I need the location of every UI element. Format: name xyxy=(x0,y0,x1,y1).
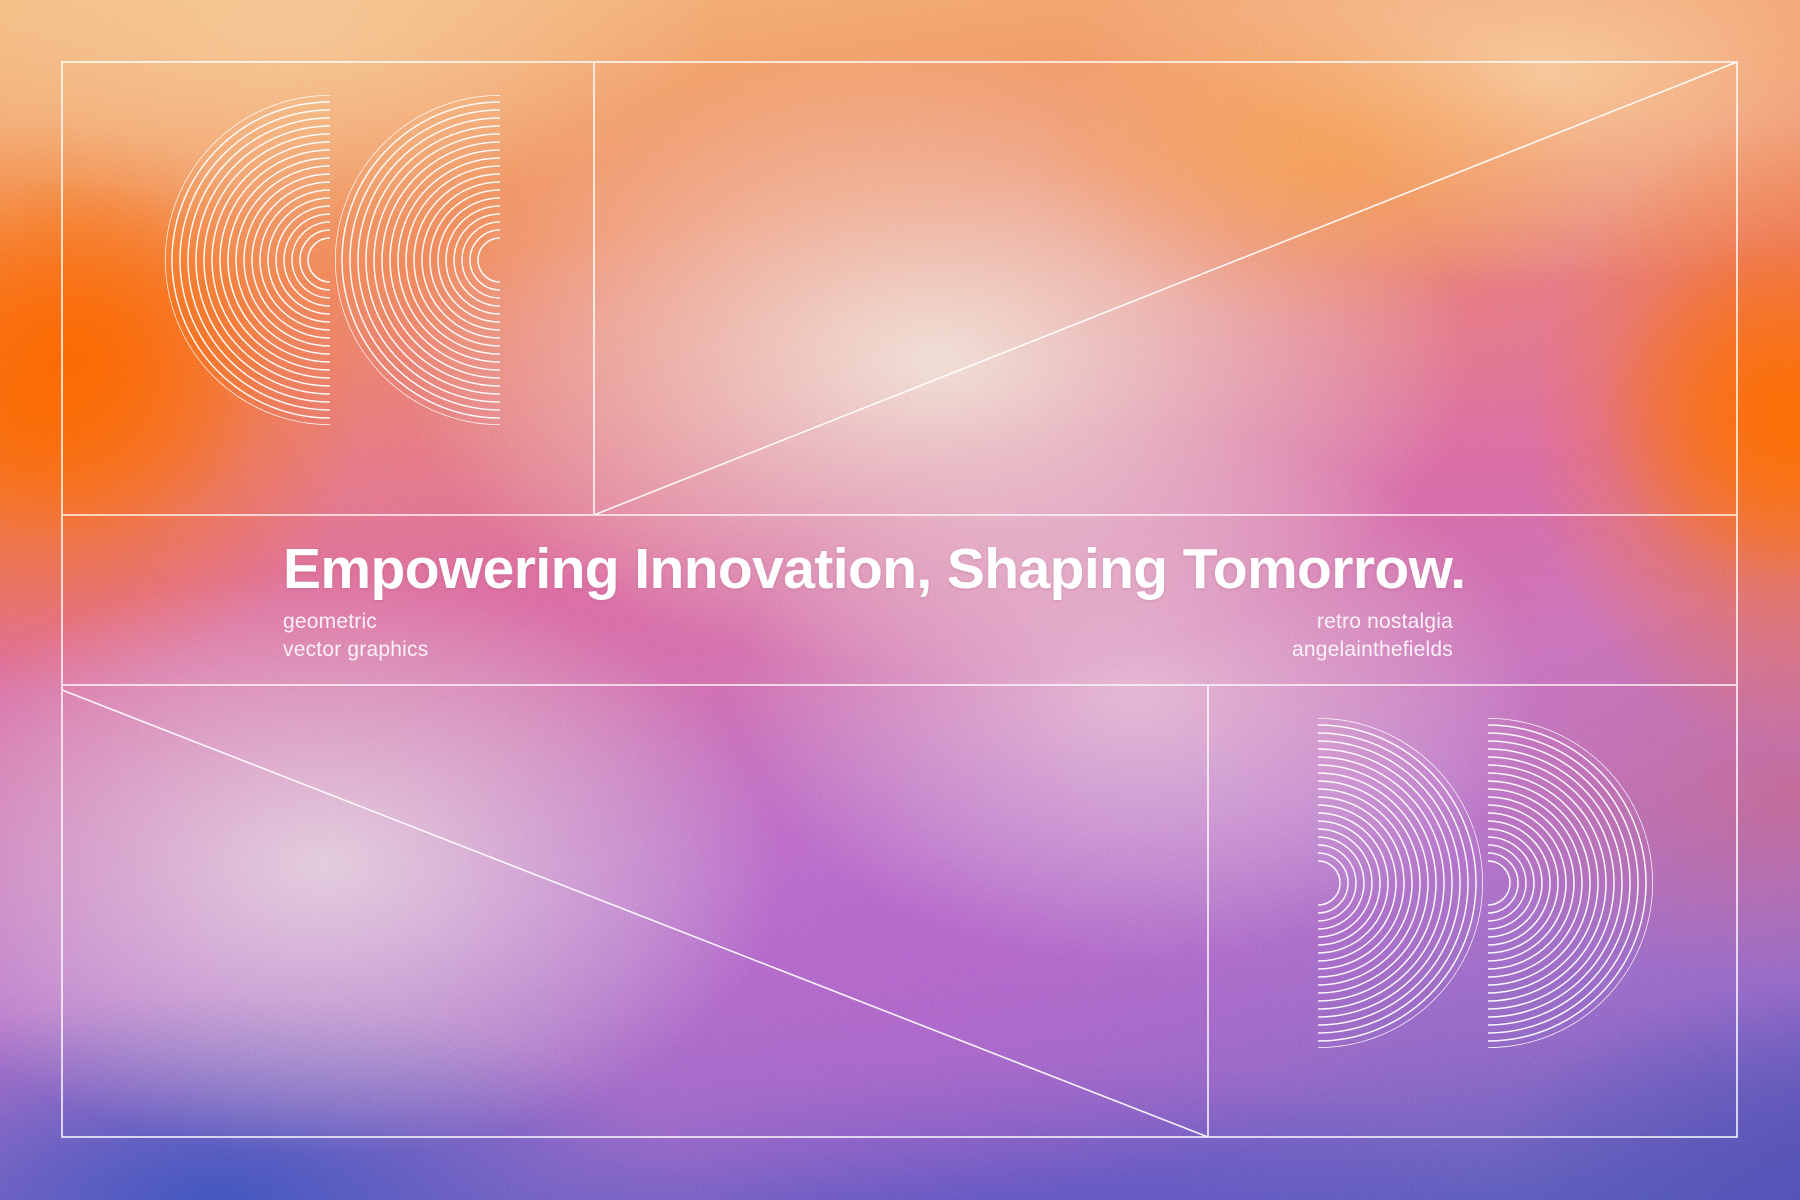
caption-left-line-2: vector graphics xyxy=(283,636,428,664)
caption-right: retro nostalgia angelainthefields xyxy=(1292,608,1453,663)
text-layer: Empowering Innovation, Shaping Tomorrow.… xyxy=(0,0,1800,1200)
caption-right-line-2: angelainthefields xyxy=(1292,636,1453,664)
poster-canvas: Empowering Innovation, Shaping Tomorrow.… xyxy=(0,0,1800,1200)
caption-right-line-1: retro nostalgia xyxy=(1292,608,1453,636)
page-title: Empowering Innovation, Shaping Tomorrow. xyxy=(283,536,1466,602)
caption-left: geometric vector graphics xyxy=(283,608,428,663)
caption-left-line-1: geometric xyxy=(283,608,428,636)
